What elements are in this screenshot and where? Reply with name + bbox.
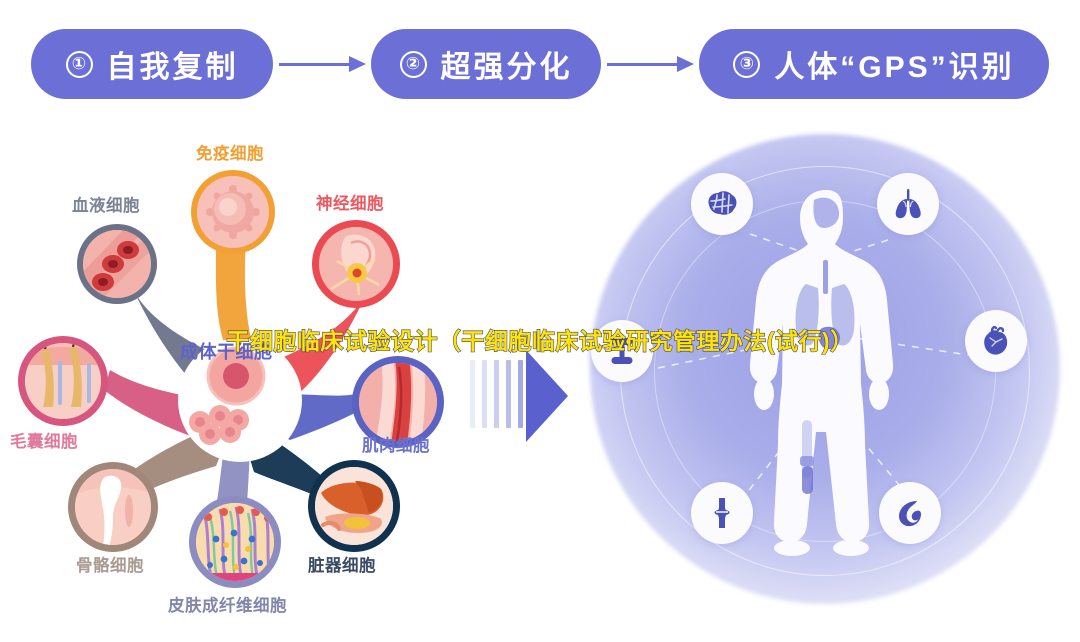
cell-label-blood: 血液细胞 bbox=[72, 192, 140, 216]
cell-label-organ: 脏器细胞 bbox=[308, 552, 376, 576]
blood-cell-illustration bbox=[83, 230, 151, 298]
stage-arrow-2-to-3 bbox=[601, 52, 699, 76]
motion-bar bbox=[482, 360, 487, 428]
hair-follicle-illustration bbox=[25, 343, 101, 419]
stage-number-1: ① bbox=[66, 51, 93, 78]
nerve-cell-illustration bbox=[319, 227, 393, 301]
stage-pill-self-replication[interactable]: ① 自我复制 bbox=[31, 29, 273, 99]
cell-node-nerve[interactable] bbox=[312, 220, 400, 308]
arrow-head-icon bbox=[349, 56, 366, 72]
lungs-icon bbox=[891, 187, 925, 221]
heart-icon bbox=[979, 324, 1013, 358]
brain-icon bbox=[705, 187, 739, 221]
chevron-right-icon bbox=[526, 350, 568, 442]
organ-icon-kidney[interactable] bbox=[879, 482, 941, 544]
organ-icon-bone[interactable] bbox=[591, 320, 653, 382]
organ-cell-illustration bbox=[315, 467, 393, 545]
cell-label-skin-fibroblast: 皮肤成纤维细胞 bbox=[168, 592, 287, 616]
cell-node-blood[interactable] bbox=[77, 224, 157, 304]
knee-joint-icon bbox=[705, 496, 739, 530]
kidney-icon bbox=[893, 496, 927, 530]
cell-node-organ[interactable] bbox=[308, 460, 400, 552]
organ-icon-lungs[interactable] bbox=[877, 173, 939, 235]
motion-bar bbox=[518, 360, 523, 428]
stage-label-1: 自我复制 bbox=[107, 42, 239, 86]
bone-cell-illustration bbox=[75, 469, 151, 545]
cell-label-bone: 骨骼细胞 bbox=[76, 552, 144, 576]
motion-bar bbox=[494, 360, 499, 428]
motion-bar bbox=[506, 360, 511, 428]
cell-label-immune: 免疫细胞 bbox=[196, 140, 264, 164]
bone-icon bbox=[605, 334, 639, 368]
arrow-head-icon bbox=[677, 56, 694, 72]
organ-icon-brain[interactable] bbox=[691, 173, 753, 235]
muscle-cell-illustration bbox=[359, 363, 437, 441]
organ-icon-heart[interactable] bbox=[965, 310, 1027, 372]
stage-number-3: ③ bbox=[733, 51, 760, 78]
immune-cell-illustration bbox=[197, 176, 269, 248]
cell-label-adult-stem-cell: 成体干细胞 bbox=[180, 338, 273, 364]
cell-label-muscle: 肌肉细胞 bbox=[362, 432, 430, 456]
cell-node-bone[interactable] bbox=[68, 462, 158, 552]
cell-node-immune[interactable] bbox=[191, 170, 275, 254]
stage-label-3: 人体“GPS”识别 bbox=[774, 42, 1014, 86]
process-stage-header: ① 自我复制 ② 超强分化 ③ 人体“GPS”识别 bbox=[0, 18, 1080, 110]
organ-icon-knee-joint[interactable] bbox=[691, 482, 753, 544]
arrow-shaft bbox=[607, 63, 681, 66]
motion-bar bbox=[470, 360, 475, 428]
cell-label-hair-follicle: 毛囊细胞 bbox=[10, 428, 78, 452]
stage-label-2: 超强分化 bbox=[441, 42, 573, 86]
human-body-gps-panel bbox=[570, 130, 1080, 642]
stage-arrow-1-to-2 bbox=[273, 52, 371, 76]
stage-number-2: ② bbox=[400, 51, 427, 78]
cell-node-skin-fibroblast[interactable] bbox=[189, 496, 281, 588]
stem-cell-differentiation-diagram: 血液细胞 免疫细胞 bbox=[0, 128, 500, 642]
cell-node-hair-follicle[interactable] bbox=[18, 336, 108, 426]
stage-pill-gps-recognition[interactable]: ③ 人体“GPS”识别 bbox=[699, 29, 1049, 99]
skin-fibroblast-illustration bbox=[196, 503, 274, 581]
transition-chevron-arrow bbox=[468, 350, 578, 442]
cell-label-nerve: 神经细胞 bbox=[316, 190, 384, 214]
stage-pill-differentiation[interactable]: ② 超强分化 bbox=[371, 29, 601, 99]
arrow-shaft bbox=[279, 63, 353, 66]
